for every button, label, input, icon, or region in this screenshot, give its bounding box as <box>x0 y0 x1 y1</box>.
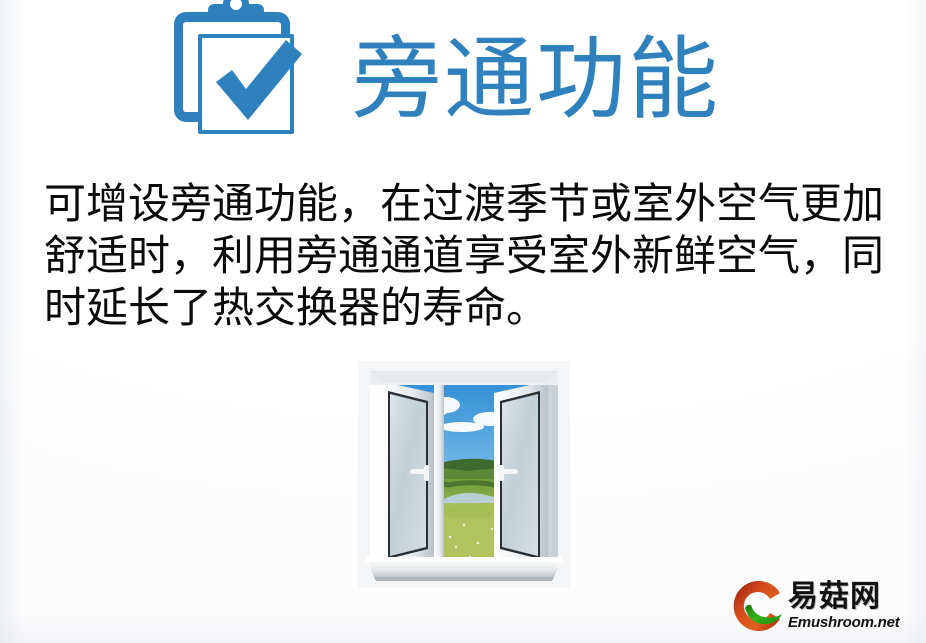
watermark-brand-en: Emushroom.net <box>788 615 900 630</box>
watermark-text: 易菇网 Emushroom.net <box>788 582 900 630</box>
emushroom-logo-icon <box>730 578 786 634</box>
header: 旁通功能 <box>0 0 926 150</box>
open-window-photo <box>358 361 570 588</box>
clipboard-check-icon <box>168 0 304 140</box>
description-paragraph: 可增设旁通功能，在过渡季节或室外空气更加舒适时，利用旁通通道享受室外新鲜空气，同… <box>44 178 902 334</box>
slide-canvas: 旁通功能 可增设旁通功能，在过渡季节或室外空气更加舒适时，利用旁通通道享受室外新… <box>0 0 926 643</box>
watermark-brand-cn: 易菇网 <box>788 582 900 612</box>
page-title: 旁通功能 <box>352 25 720 135</box>
watermark: 易菇网 Emushroom.net <box>730 578 918 634</box>
